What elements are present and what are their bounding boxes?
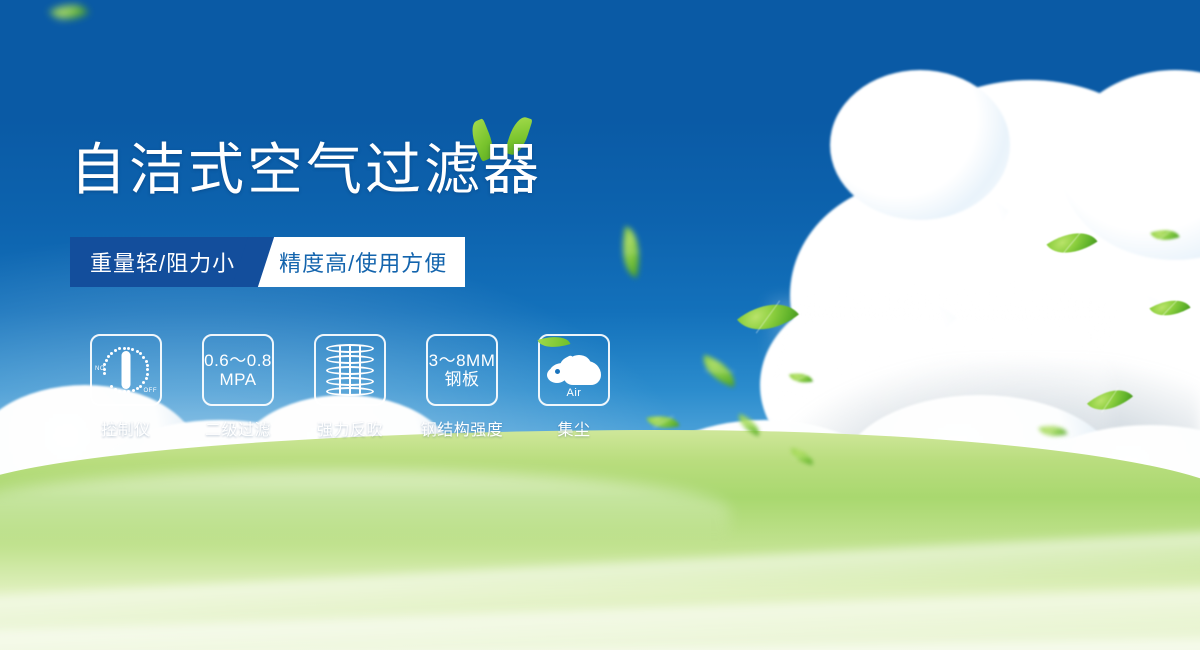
gauge-label-off: OFF [144,388,158,394]
feature-label-backblow: 强力反吹 [317,416,383,440]
steel-plate-text-icon: 3～8MM 钢板 [429,351,496,389]
feature-item-pressure[interactable]: 0.6～0.8 MPA 二级过滤 [182,334,294,440]
subtitle-right: 精度高/使用方便 [253,237,465,287]
feature-box-backblow [314,334,386,406]
page-title: 自洁式空气过滤器 [70,142,542,198]
pressure-line-1: 0.6～0.8 [204,351,272,370]
gauge-switch-icon: NO OFF [95,342,157,398]
feature-label-pressure: 二级过滤 [205,416,271,440]
feature-label-dust: 集尘 [557,416,590,440]
feature-box-steel: 3～8MM 钢板 [426,334,498,406]
feature-box-controller: NO OFF [90,334,162,406]
subtitle-bar: 重量轻/阻力小 精度高/使用方便 [70,237,465,287]
feature-label-steel: 钢结构强度 [421,416,504,440]
filter-stack-icon [326,342,374,398]
subtitle-left: 重量轻/阻力小 [70,237,253,287]
air-label: Air [545,387,603,399]
air-leaf-decoration [538,331,571,354]
pressure-line-2: MPA [204,370,272,389]
feature-item-controller[interactable]: NO OFF 控制仪 [70,334,182,440]
grass-field [0,430,1200,650]
feature-item-backblow[interactable]: 强力反吹 [294,334,406,440]
product-banner: 自洁式空气过滤器 重量轻/阻力小 精度高/使用方便 NO OFF 控制仪 0.6… [0,0,1200,650]
pressure-text-icon: 0.6～0.8 MPA [204,351,272,389]
feature-box-pressure: 0.6～0.8 MPA [202,334,274,406]
steel-line-1: 3～8MM [429,351,496,370]
feature-list: NO OFF 控制仪 0.6～0.8 MPA 二级过滤 [70,334,630,440]
air-cloud-icon: Air [545,345,603,395]
feature-box-dust: Air [538,334,610,406]
steel-line-2: 钢板 [429,370,496,389]
feature-item-dust[interactable]: Air 集尘 [518,334,630,440]
feature-label-controller: 控制仪 [101,416,151,440]
feature-item-steel[interactable]: 3～8MM 钢板 钢结构强度 [406,334,518,440]
